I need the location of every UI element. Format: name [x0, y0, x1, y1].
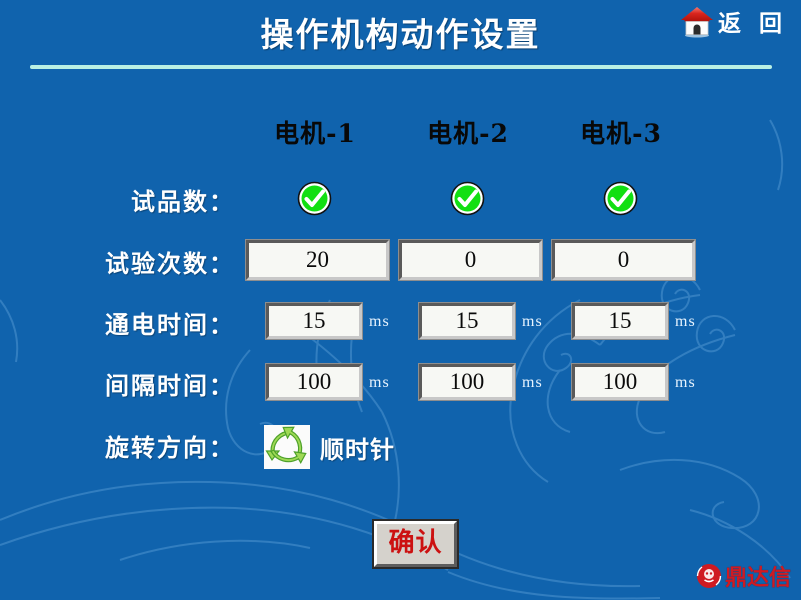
- check-circle-icon-motor-3[interactable]: [603, 181, 638, 216]
- row-label-sample-count: 试品数：: [30, 182, 235, 217]
- check-circle-icon-motor-1[interactable]: [297, 181, 332, 216]
- interval-time-unit-motor-2: ms: [522, 374, 543, 392]
- rotate-direction-value: 顺时针: [320, 430, 395, 465]
- interval-time-input-motor-1[interactable]: 100: [266, 364, 362, 400]
- row-label-test-times: 试验次数：: [30, 244, 235, 279]
- test-times-input-motor-1[interactable]: 20: [246, 240, 389, 280]
- interval-time-input-motor-2[interactable]: 100: [419, 364, 515, 400]
- power-on-time-input-motor-3[interactable]: 15: [572, 303, 668, 339]
- brand-seal-icon: [696, 563, 722, 589]
- home-icon: [680, 4, 714, 38]
- row-label-rotate-direction: 旋转方向：: [30, 428, 235, 463]
- power-on-time-unit-motor-1: ms: [369, 313, 390, 331]
- test-times-input-motor-3[interactable]: 0: [552, 240, 695, 280]
- title-divider: [30, 65, 772, 69]
- column-header-motor-2: 电机-2: [388, 114, 548, 150]
- brand-logo: 鼎达信: [696, 560, 791, 592]
- brand-name: 鼎达信: [725, 560, 791, 592]
- back-button[interactable]: 返 回: [680, 4, 787, 38]
- row-label-power-on-time: 通电时间：: [30, 305, 235, 340]
- confirm-button[interactable]: 确认: [374, 521, 457, 567]
- column-header-motor-3: 电机-3: [541, 114, 701, 150]
- rotate-clockwise-icon: [264, 425, 310, 469]
- interval-time-unit-motor-3: ms: [675, 374, 696, 392]
- check-circle-icon-motor-2[interactable]: [450, 181, 485, 216]
- power-on-time-input-motor-2[interactable]: 15: [419, 303, 515, 339]
- power-on-time-unit-motor-3: ms: [675, 313, 696, 331]
- background-decoration: [0, 0, 801, 600]
- interval-time-input-motor-3[interactable]: 100: [572, 364, 668, 400]
- app-screen: 操作机构动作设置 返 回 电机-1 电机-2 电机-3 试: [0, 0, 801, 600]
- column-header-motor-1: 电机-1: [235, 114, 395, 150]
- test-times-input-motor-2[interactable]: 0: [399, 240, 542, 280]
- row-label-interval-time: 间隔时间：: [30, 366, 235, 401]
- header: 操作机构动作设置 返 回: [0, 0, 801, 70]
- back-button-label: 返 回: [718, 4, 787, 38]
- power-on-time-unit-motor-2: ms: [522, 313, 543, 331]
- rotate-direction-toggle[interactable]: [264, 425, 310, 469]
- interval-time-unit-motor-1: ms: [369, 374, 390, 392]
- power-on-time-input-motor-1[interactable]: 15: [266, 303, 362, 339]
